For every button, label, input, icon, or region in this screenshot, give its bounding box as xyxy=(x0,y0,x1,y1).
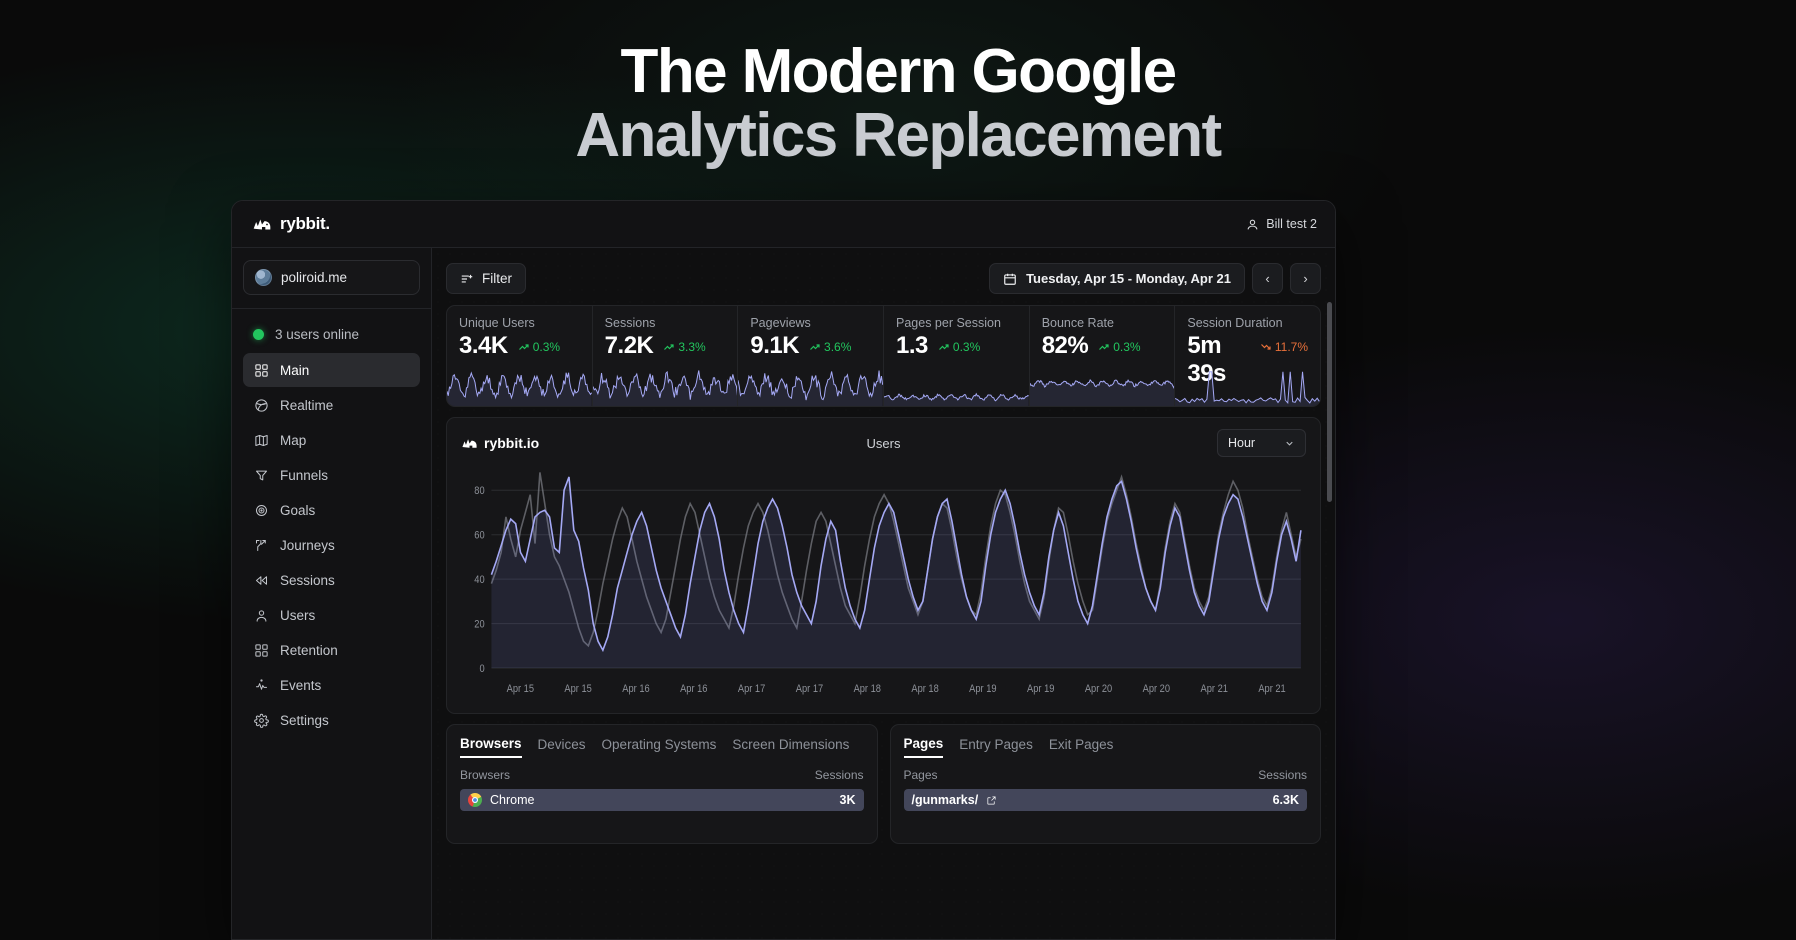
sidebar-item-label: Funnels xyxy=(280,468,328,483)
next-period-button[interactable]: › xyxy=(1290,263,1321,294)
stat-label: Bounce Rate xyxy=(1042,316,1163,330)
sidebar-item-retention[interactable]: Retention xyxy=(243,633,420,667)
external-link-icon[interactable] xyxy=(986,795,997,806)
stat-delta: 11.7% xyxy=(1260,340,1308,354)
svg-text:Apr 18: Apr 18 xyxy=(911,683,939,695)
sidebar-item-label: Settings xyxy=(280,713,329,728)
sidebar-item-label: Map xyxy=(280,433,306,448)
stat-card-sessions[interactable]: Sessions7.2K3.3% xyxy=(593,306,739,406)
online-dot-icon xyxy=(253,329,264,340)
stat-label: Sessions xyxy=(605,316,726,330)
brand[interactable]: rybbit. xyxy=(252,214,330,234)
map-icon xyxy=(253,432,269,448)
stat-delta: 0.3% xyxy=(1098,340,1140,354)
sidebar-item-label: Events xyxy=(280,678,321,693)
date-range-label: Tuesday, Apr 15 - Monday, Apr 21 xyxy=(1026,271,1231,286)
chart-brand: rybbit.io xyxy=(461,435,539,451)
stat-delta: 0.3% xyxy=(518,340,560,354)
hero-heading: The Modern Google Analytics Replacement xyxy=(0,40,1796,169)
sidebar-nav: MainRealtimeMapFunnelsGoalsJourneysSessi… xyxy=(243,353,420,737)
site-selector[interactable]: poliroid.me xyxy=(243,260,420,295)
user-menu[interactable]: Bill test 2 xyxy=(1246,217,1317,231)
sidebar-item-users[interactable]: Users xyxy=(243,598,420,632)
stat-delta-value: 0.3% xyxy=(533,340,560,354)
trend-up-icon xyxy=(663,341,675,353)
sidebar-divider xyxy=(232,308,431,309)
tab-operating-systems[interactable]: Operating Systems xyxy=(602,737,717,757)
hero-line-2: Analytics Replacement xyxy=(0,104,1796,168)
sidebar-item-label: Realtime xyxy=(280,398,333,413)
stat-row: 7.2K3.3% xyxy=(605,332,726,360)
stat-value: 9.1K xyxy=(750,332,799,360)
rewind-icon xyxy=(253,572,269,588)
svg-text:40: 40 xyxy=(474,574,485,586)
stat-value: 82% xyxy=(1042,332,1089,360)
sidebar-item-label: Goals xyxy=(280,503,315,518)
stat-delta-value: 3.6% xyxy=(824,340,851,354)
svg-text:Apr 16: Apr 16 xyxy=(680,683,708,695)
date-controls: Tuesday, Apr 15 - Monday, Apr 21 ‹ › xyxy=(989,263,1321,294)
row-value: 3K xyxy=(840,793,856,807)
row-label: /gunmarks/ xyxy=(912,793,979,807)
stat-sparkline xyxy=(738,368,883,406)
trend-down-icon xyxy=(1260,341,1272,353)
chrome-icon xyxy=(468,793,482,807)
tab-exit-pages[interactable]: Exit Pages xyxy=(1049,737,1114,757)
svg-text:Apr 15: Apr 15 xyxy=(564,683,592,695)
chart-brand-label: rybbit.io xyxy=(484,435,539,451)
tab-browsers[interactable]: Browsers xyxy=(460,736,522,758)
filter-icon xyxy=(460,272,474,286)
pages-tabs: PagesEntry PagesExit Pages xyxy=(904,736,1308,758)
browsers-col-right: Sessions xyxy=(815,768,864,782)
hero-line-1: The Modern Google xyxy=(0,40,1796,104)
svg-text:20: 20 xyxy=(474,619,485,631)
trend-up-icon xyxy=(809,341,821,353)
svg-text:60: 60 xyxy=(474,530,485,542)
svg-text:Apr 16: Apr 16 xyxy=(622,683,650,695)
stat-card-unique-users[interactable]: Unique Users3.4K0.3% xyxy=(447,306,593,406)
svg-text:Apr 21: Apr 21 xyxy=(1201,683,1229,695)
stat-sparkline xyxy=(1175,368,1320,406)
svg-text:Apr 17: Apr 17 xyxy=(796,683,824,695)
stat-card-session-duration[interactable]: Session Duration5m 39s11.7% xyxy=(1175,306,1320,406)
bottom-panels: BrowsersDevicesOperating SystemsScreen D… xyxy=(446,724,1321,844)
stat-sparkline xyxy=(447,368,592,406)
stat-value: 1.3 xyxy=(896,332,928,360)
sidebar-item-funnels[interactable]: Funnels xyxy=(243,458,420,492)
svg-text:Apr 20: Apr 20 xyxy=(1085,683,1113,695)
sidebar-item-map[interactable]: Map xyxy=(243,423,420,457)
stat-row: 3.4K0.3% xyxy=(459,332,580,360)
pages-col-right: Sessions xyxy=(1258,768,1307,782)
events-icon xyxy=(253,677,269,693)
pages-column-headers: Pages Sessions xyxy=(904,768,1308,782)
tab-devices[interactable]: Devices xyxy=(538,737,586,757)
svg-text:Apr 19: Apr 19 xyxy=(1027,683,1055,695)
stat-card-pageviews[interactable]: Pageviews9.1K3.6% xyxy=(738,306,884,406)
tab-entry-pages[interactable]: Entry Pages xyxy=(959,737,1033,757)
stat-value: 3.4K xyxy=(459,332,508,360)
calendar-icon xyxy=(1003,272,1017,286)
brand-name: rybbit. xyxy=(280,214,330,234)
sidebar-item-events[interactable]: Events xyxy=(243,668,420,702)
row-label-group: /gunmarks/ xyxy=(912,793,998,807)
svg-text:Apr 21: Apr 21 xyxy=(1258,683,1286,695)
stat-row: 1.30.3% xyxy=(896,332,1017,360)
stat-label: Pageviews xyxy=(750,316,871,330)
sidebar-item-sessions[interactable]: Sessions xyxy=(243,563,420,597)
stat-card-pages-per-session[interactable]: Pages per Session1.30.3% xyxy=(884,306,1030,406)
rybbit-logo-icon xyxy=(252,217,272,232)
site-name: poliroid.me xyxy=(281,270,347,285)
rybbit-logo-icon xyxy=(461,437,478,450)
svg-text:Apr 18: Apr 18 xyxy=(854,683,882,695)
sidebar-item-label: Journeys xyxy=(280,538,335,553)
chart-title: Users xyxy=(447,436,1320,451)
granularity-value: Hour xyxy=(1228,436,1255,450)
chevron-down-icon xyxy=(1284,438,1295,449)
chart-header: rybbit.io Users Hour xyxy=(461,430,1306,456)
row-value: 6.3K xyxy=(1273,793,1299,807)
funnel-icon xyxy=(253,467,269,483)
granularity-select[interactable]: Hour xyxy=(1217,429,1306,457)
realtime-icon xyxy=(253,397,269,413)
user-icon xyxy=(1246,218,1259,231)
gear-icon xyxy=(253,712,269,728)
stat-delta-value: 11.7% xyxy=(1275,340,1308,354)
stat-delta: 3.3% xyxy=(663,340,705,354)
app-window: rybbit. Bill test 2 poliroid.me 3 users xyxy=(231,200,1336,940)
grid-icon xyxy=(253,642,269,658)
main-toolbar: Filter Tuesday, Apr 15 - Monday, Apr 21 … xyxy=(446,262,1321,295)
row-label-group: Chrome xyxy=(468,793,534,807)
sidebar-item-journeys[interactable]: Journeys xyxy=(243,528,420,562)
stat-label: Session Duration xyxy=(1187,316,1308,330)
stat-value: 7.2K xyxy=(605,332,654,360)
target-icon xyxy=(253,502,269,518)
sidebar-item-goals[interactable]: Goals xyxy=(243,493,420,527)
sidebar: poliroid.me 3 users online MainRealtimeM… xyxy=(232,248,432,940)
sidebar-item-label: Main xyxy=(280,363,309,378)
main-chart-card: rybbit.io Users Hour 020406080Apr 15Apr … xyxy=(446,417,1321,714)
page-root: The Modern Google Analytics Replacement … xyxy=(0,0,1796,940)
stat-sparkline xyxy=(1030,368,1175,406)
stat-delta-value: 0.3% xyxy=(1113,340,1140,354)
app-topbar: rybbit. Bill test 2 xyxy=(232,201,1335,248)
grid-icon xyxy=(253,362,269,378)
stat-label: Unique Users xyxy=(459,316,580,330)
main-content: Filter Tuesday, Apr 15 - Monday, Apr 21 … xyxy=(432,248,1335,940)
sidebar-item-realtime[interactable]: Realtime xyxy=(243,388,420,422)
stat-delta: 3.6% xyxy=(809,340,851,354)
sidebar-item-label: Sessions xyxy=(280,573,335,588)
date-range-picker[interactable]: Tuesday, Apr 15 - Monday, Apr 21 xyxy=(989,263,1245,294)
content-scrollbar[interactable] xyxy=(1327,302,1332,502)
sidebar-item-label: Retention xyxy=(280,643,338,658)
users-line-chart[interactable]: 020406080Apr 15Apr 15Apr 16Apr 16Apr 17A… xyxy=(461,458,1306,708)
globe-icon xyxy=(255,269,272,286)
row-label: Chrome xyxy=(490,793,534,807)
stat-sparkline xyxy=(593,368,738,406)
stat-delta: 0.3% xyxy=(938,340,980,354)
prev-period-button[interactable]: ‹ xyxy=(1252,263,1283,294)
tab-screen-dimensions[interactable]: Screen Dimensions xyxy=(732,737,849,757)
svg-text:Apr 20: Apr 20 xyxy=(1143,683,1171,695)
svg-text:Apr 17: Apr 17 xyxy=(738,683,766,695)
stat-cards: Unique Users3.4K0.3%Sessions7.2K3.3%Page… xyxy=(446,305,1321,407)
browsers-tabs: BrowsersDevicesOperating SystemsScreen D… xyxy=(460,736,864,758)
trend-up-icon xyxy=(518,341,530,353)
pages-panel: PagesEntry PagesExit Pages Pages Session… xyxy=(890,724,1322,844)
stat-row: 9.1K3.6% xyxy=(750,332,871,360)
users-online-status: 3 users online xyxy=(243,319,420,349)
stat-card-bounce-rate[interactable]: Bounce Rate82%0.3% xyxy=(1030,306,1176,406)
sidebar-item-main[interactable]: Main xyxy=(243,353,420,387)
table-row[interactable]: /gunmarks/ 6.3K xyxy=(904,789,1308,811)
filter-label: Filter xyxy=(482,271,512,286)
stat-sparkline xyxy=(884,368,1029,406)
users-online-label: 3 users online xyxy=(275,327,359,342)
journeys-icon xyxy=(253,537,269,553)
browsers-panel: BrowsersDevicesOperating SystemsScreen D… xyxy=(446,724,878,844)
sidebar-item-settings[interactable]: Settings xyxy=(243,703,420,737)
svg-text:0: 0 xyxy=(479,663,484,675)
trend-up-icon xyxy=(1098,341,1110,353)
user-name: Bill test 2 xyxy=(1266,217,1317,231)
svg-text:Apr 15: Apr 15 xyxy=(507,683,535,695)
table-row[interactable]: Chrome 3K xyxy=(460,789,864,811)
stat-delta-value: 3.3% xyxy=(678,340,705,354)
stat-row: 82%0.3% xyxy=(1042,332,1163,360)
browsers-column-headers: Browsers Sessions xyxy=(460,768,864,782)
filter-button[interactable]: Filter xyxy=(446,263,526,294)
tab-pages[interactable]: Pages xyxy=(904,736,944,758)
sidebar-item-label: Users xyxy=(280,608,315,623)
user-icon xyxy=(253,607,269,623)
svg-text:80: 80 xyxy=(474,486,485,498)
stat-label: Pages per Session xyxy=(896,316,1017,330)
trend-up-icon xyxy=(938,341,950,353)
stat-delta-value: 0.3% xyxy=(953,340,980,354)
svg-text:Apr 19: Apr 19 xyxy=(969,683,997,695)
pages-col-left: Pages xyxy=(904,768,938,782)
browsers-col-left: Browsers xyxy=(460,768,510,782)
